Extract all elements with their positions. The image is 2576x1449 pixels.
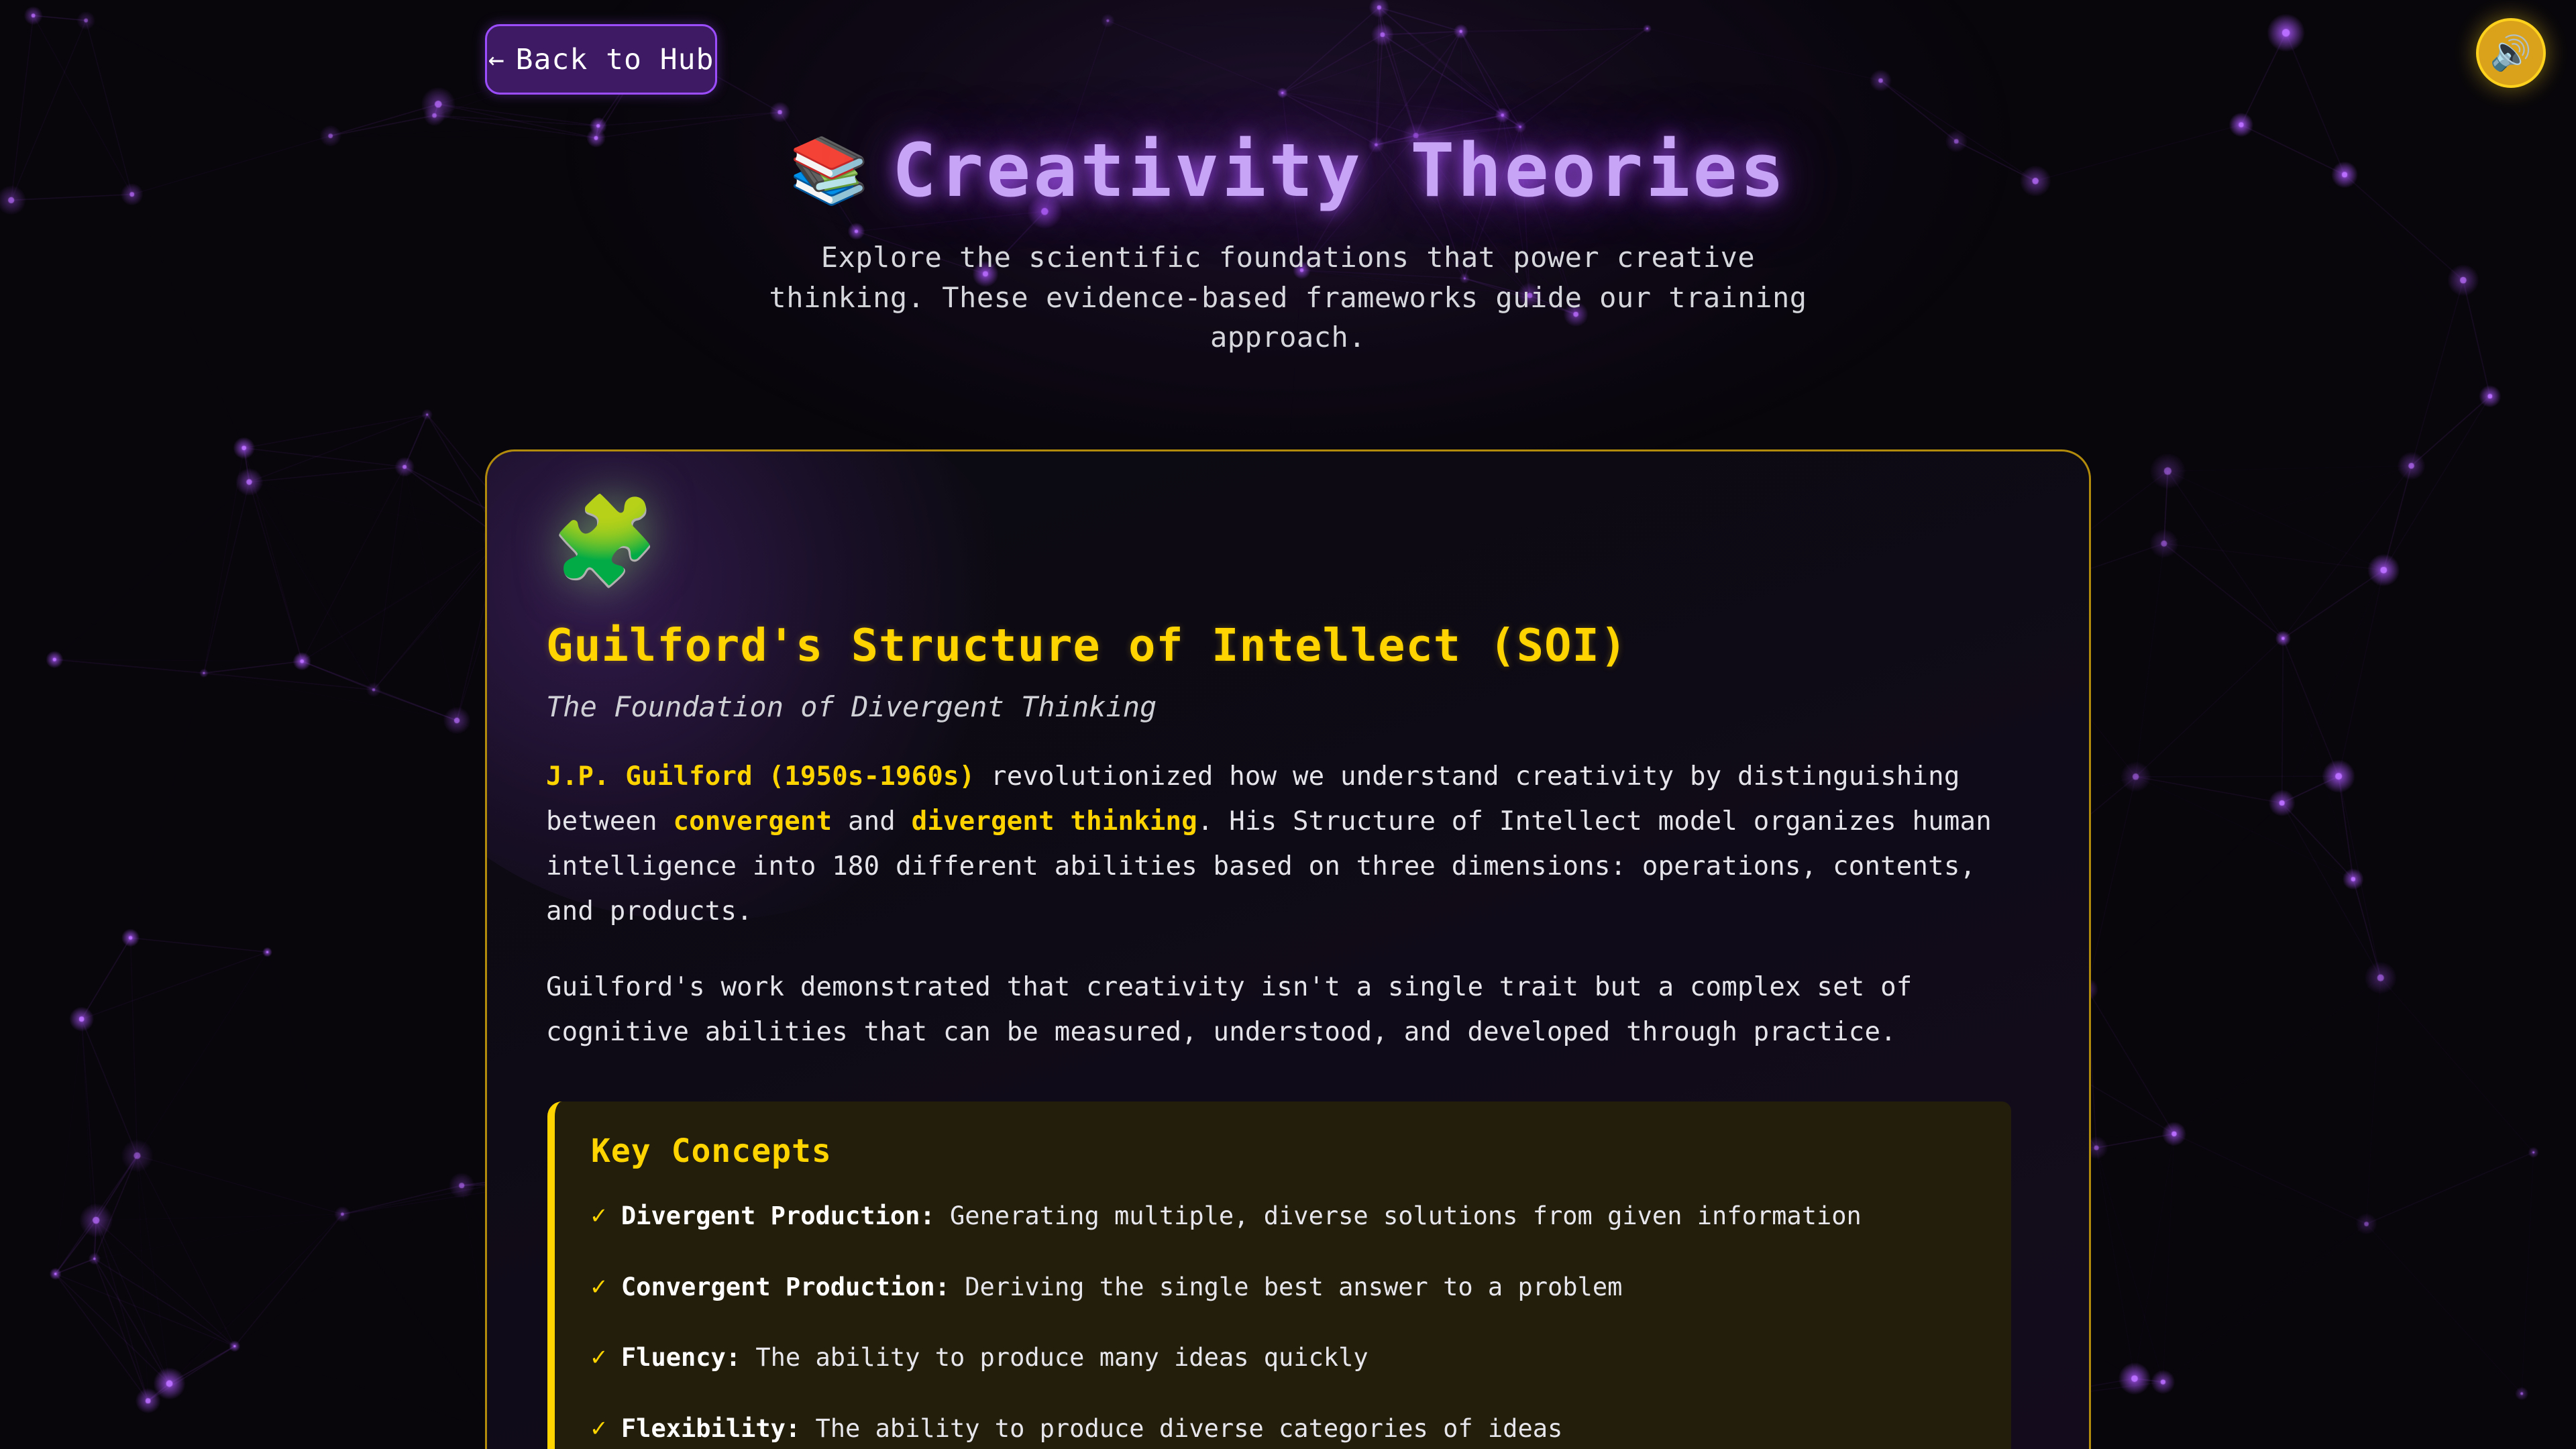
key-concept-term: Fluency: <box>621 1343 741 1372</box>
key-concept-text: Fluency: The ability to produce many ide… <box>621 1338 1368 1377</box>
key-concept-text: Convergent Production: Deriving the sing… <box>621 1268 1623 1306</box>
books-icon: 📚 <box>789 133 872 209</box>
key-concept-term: Divergent Production: <box>621 1201 935 1230</box>
key-concept-text: Divergent Production: Generating multipl… <box>621 1197 1862 1235</box>
page-subtitle: Explore the scientific foundations that … <box>765 237 1811 358</box>
divergent-thinking-highlight: divergent thinking <box>912 806 1197 837</box>
key-concept-desc: The ability to produce many ideas quickl… <box>741 1343 1368 1372</box>
key-concept-text: Flexibility: The ability to produce dive… <box>621 1409 1562 1448</box>
key-concept-desc: Deriving the single best answer to a pro… <box>950 1273 1622 1301</box>
theory-paragraph-1: J.P. Guilford (1950s-1960s) revolutioniz… <box>546 754 2030 934</box>
theory-card-content: 🧩 Guilford's Structure of Intellect (SOI… <box>546 498 2030 1449</box>
theory-card-guilford: 🧩 Guilford's Structure of Intellect (SOI… <box>485 449 2091 1449</box>
creativity-theories-page: ← Back to Hub 🔊 📚 Creativity Theories Ex… <box>0 0 2576 1449</box>
key-concepts-list: ✓Divergent Production: Generating multip… <box>591 1197 1975 1447</box>
key-concept-desc: The ability to produce diverse categorie… <box>800 1414 1562 1443</box>
back-to-hub-button[interactable]: ← Back to Hub <box>485 24 717 95</box>
convergent-highlight: convergent <box>673 806 832 837</box>
page-header: 📚 Creativity Theories Explore the scient… <box>0 127 2576 358</box>
key-concept-term: Convergent Production: <box>621 1273 950 1301</box>
key-concept-desc: Generating multiple, diverse solutions f… <box>935 1201 1862 1230</box>
back-to-hub-label: Back to Hub <box>516 43 714 76</box>
key-concept-item: ✓Divergent Production: Generating multip… <box>591 1197 1975 1235</box>
key-concept-term: Flexibility: <box>621 1414 800 1443</box>
theory-author-highlight: J.P. Guilford (1950s-1960s) <box>546 761 975 792</box>
speaker-icon: 🔊 <box>2490 34 2532 73</box>
theory-paragraph-2: Guilford's work demonstrated that creati… <box>546 965 2030 1055</box>
key-concepts-title: Key Concepts <box>591 1132 1975 1170</box>
check-icon: ✓ <box>591 1268 606 1305</box>
theory-para1-mid2: and <box>832 806 911 837</box>
key-concept-item: ✓Flexibility: The ability to produce div… <box>591 1409 1975 1448</box>
key-concept-item: ✓Convergent Production: Deriving the sin… <box>591 1268 1975 1306</box>
page-title-text: Creativity Theories <box>892 127 1787 213</box>
puzzle-piece-icon: 🧩 <box>551 498 2030 584</box>
sound-toggle-button[interactable]: 🔊 <box>2476 18 2546 88</box>
theory-title: Guilford's Structure of Intellect (SOI) <box>546 619 2030 672</box>
theory-subtitle: The Foundation of Divergent Thinking <box>546 690 2030 723</box>
check-icon: ✓ <box>591 1338 606 1375</box>
page-title: 📚 Creativity Theories <box>789 127 1787 213</box>
key-concepts-box: Key Concepts ✓Divergent Production: Gene… <box>547 1102 2011 1449</box>
check-icon: ✓ <box>591 1197 606 1234</box>
key-concept-item: ✓Fluency: The ability to produce many id… <box>591 1338 1975 1377</box>
left-arrow-icon: ← <box>488 44 505 75</box>
check-icon: ✓ <box>591 1409 606 1446</box>
